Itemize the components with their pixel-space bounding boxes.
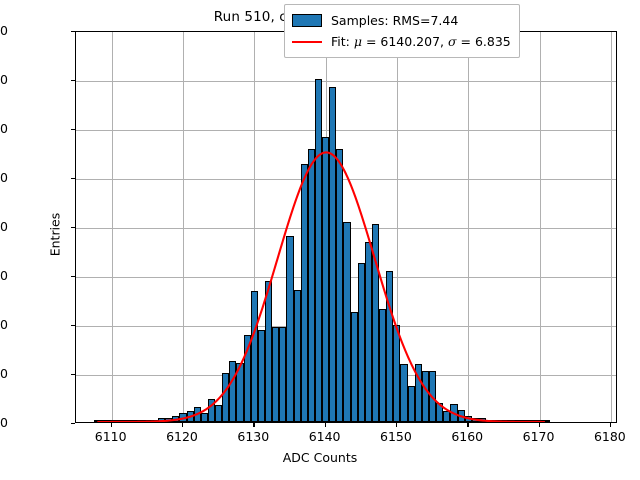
- x-tick-mark: [325, 423, 326, 427]
- y-axis-label: Entries: [48, 175, 63, 295]
- x-tick-label: 6150: [380, 429, 412, 444]
- x-tick-label: 6140: [309, 429, 341, 444]
- legend-fit-mu-value: = 6140.207,: [362, 34, 448, 49]
- matplotlib-figure: Run 510, channel031, Pedestal 0100200300…: [0, 0, 640, 480]
- y-tick-label: 100: [0, 366, 8, 381]
- x-tick-mark: [610, 423, 611, 427]
- x-tick-mark: [111, 423, 112, 427]
- x-tick-label: 6110: [95, 429, 127, 444]
- legend-patch-icon: [292, 14, 322, 27]
- y-tick-mark: [71, 276, 75, 277]
- plot-axes: [75, 31, 617, 423]
- legend-fit-prefix: Fit:: [331, 34, 354, 49]
- x-tick-mark: [539, 423, 540, 427]
- y-tick-label: 200: [0, 317, 8, 332]
- x-tick-mark: [396, 423, 397, 427]
- legend-fit-sigma-symbol: σ: [448, 34, 457, 49]
- chart-legend: Samples: RMS=7.44 Fit: μ = 6140.207, σ =…: [284, 4, 520, 58]
- legend-fit-mu-symbol: μ: [354, 34, 362, 49]
- y-tick-label: 600: [0, 121, 8, 136]
- legend-entry-fit: Fit: μ = 6140.207, σ = 6.835: [292, 31, 511, 52]
- y-tick-mark: [71, 325, 75, 326]
- legend-label-fit: Fit: μ = 6140.207, σ = 6.835: [331, 34, 511, 49]
- y-tick-mark: [71, 129, 75, 130]
- x-axis-label: ADC Counts: [0, 450, 640, 465]
- y-tick-label: 300: [0, 268, 8, 283]
- plot-area: [76, 32, 616, 422]
- x-tick-label: 6170: [523, 429, 555, 444]
- legend-label-samples: Samples: RMS=7.44: [331, 13, 458, 28]
- y-tick-mark: [71, 227, 75, 228]
- y-tick-label: 400: [0, 219, 8, 234]
- y-tick-mark: [71, 423, 75, 424]
- y-tick-mark: [71, 178, 75, 179]
- y-tick-mark: [71, 31, 75, 32]
- legend-entry-samples: Samples: RMS=7.44: [292, 10, 511, 31]
- y-tick-label: 0: [0, 415, 8, 430]
- x-tick-mark: [182, 423, 183, 427]
- x-tick-label: 6130: [237, 429, 269, 444]
- legend-fit-sigma-value: = 6.835: [457, 34, 511, 49]
- fit-curve-path: [97, 152, 545, 422]
- y-tick-label: 800: [0, 23, 8, 38]
- gaussian-fit-curve: [76, 32, 616, 422]
- y-tick-mark: [71, 374, 75, 375]
- x-tick-label: 6180: [594, 429, 626, 444]
- legend-line-icon: [292, 41, 322, 43]
- x-tick-mark: [467, 423, 468, 427]
- x-tick-label: 6160: [451, 429, 483, 444]
- x-tick-label: 6120: [166, 429, 198, 444]
- y-tick-label: 500: [0, 170, 8, 185]
- x-tick-mark: [253, 423, 254, 427]
- y-tick-mark: [71, 80, 75, 81]
- y-tick-label: 700: [0, 72, 8, 87]
